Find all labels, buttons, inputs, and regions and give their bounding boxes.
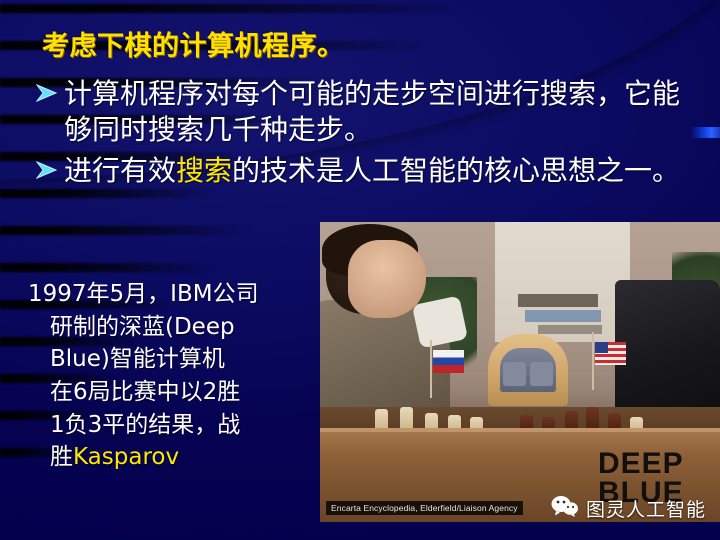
watermark: 图灵人工智能 [551,495,706,522]
chess-clock-dial-right [530,362,553,386]
deep-blue-banner-line1: DEEP [598,450,684,479]
photo-player-hands [348,240,426,318]
paragraph-line: Blue)智能计算机 [28,343,310,376]
paragraph-line: 研制的深蓝(Deep [28,311,310,344]
paragraph-line: 胜Kasparov [28,441,310,474]
chess-clock-face [500,348,556,392]
highlighted-term: 搜索 [176,154,232,187]
list-item-text-post: 的技术是人工智能的核心思想之一。 [232,154,680,187]
bullet-arrow-icon [36,160,58,180]
chess-match-photo: DEEP BLUE Encarta Encyclopedia, Elderfie… [320,222,720,522]
list-item-text-pre: 进行有效 [64,154,176,187]
russian-flag-cloth [433,350,464,373]
us-flag-cloth [595,342,626,365]
photo-backdrop-sign [518,294,598,307]
paragraph-line: 1997年5月，IBM公司 [28,278,310,311]
russian-flag [430,350,464,374]
slide: 考虑下棋的计算机程序。 计算机程序对每个可能的走步空间进行搜索，它能够同时搜索几… [0,0,720,540]
photo-backdrop-sign [525,310,601,322]
list-item: 计算机程序对每个可能的走步空间进行搜索，它能够同时搜索几千种走步。 [34,76,682,149]
page-title: 考虑下棋的计算机程序。 [42,24,345,63]
accent-bar [692,127,720,138]
list-item: 进行有效搜索的技术是人工智能的核心思想之一。 [34,153,682,189]
list-item-text: 计算机程序对每个可能的走步空间进行搜索，它能够同时搜索几千种走步。 [64,76,682,149]
list-item-text: 进行有效搜索的技术是人工智能的核心思想之一。 [64,153,682,189]
body-paragraph: 1997年5月，IBM公司 研制的深蓝(Deep Blue)智能计算机 在6局比… [28,278,310,474]
flag-pole [430,340,432,398]
paragraph-line: 在6局比赛中以2胜 [28,376,310,409]
us-flag-canton [595,342,608,353]
watermark-label: 图灵人工智能 [586,495,706,522]
player-name: Kasparov [73,444,179,470]
photo-backdrop-panel [495,222,630,342]
flag-pole [592,332,594,390]
paragraph-line: 1负3平的结果，战 [28,409,310,442]
wechat-icon [551,495,579,522]
paragraph-line-pre: 胜 [50,444,73,470]
bullet-list: 计算机程序对每个可能的走步空间进行搜索，它能够同时搜索几千种走步。 进行有效搜索… [34,76,682,193]
chess-clock-dial-left [503,362,526,386]
chess-clock [488,334,568,406]
us-flag [592,342,626,366]
bullet-arrow-icon [36,83,58,103]
photo-caption: Encarta Encyclopedia, Elderfield/Liaison… [326,501,523,515]
